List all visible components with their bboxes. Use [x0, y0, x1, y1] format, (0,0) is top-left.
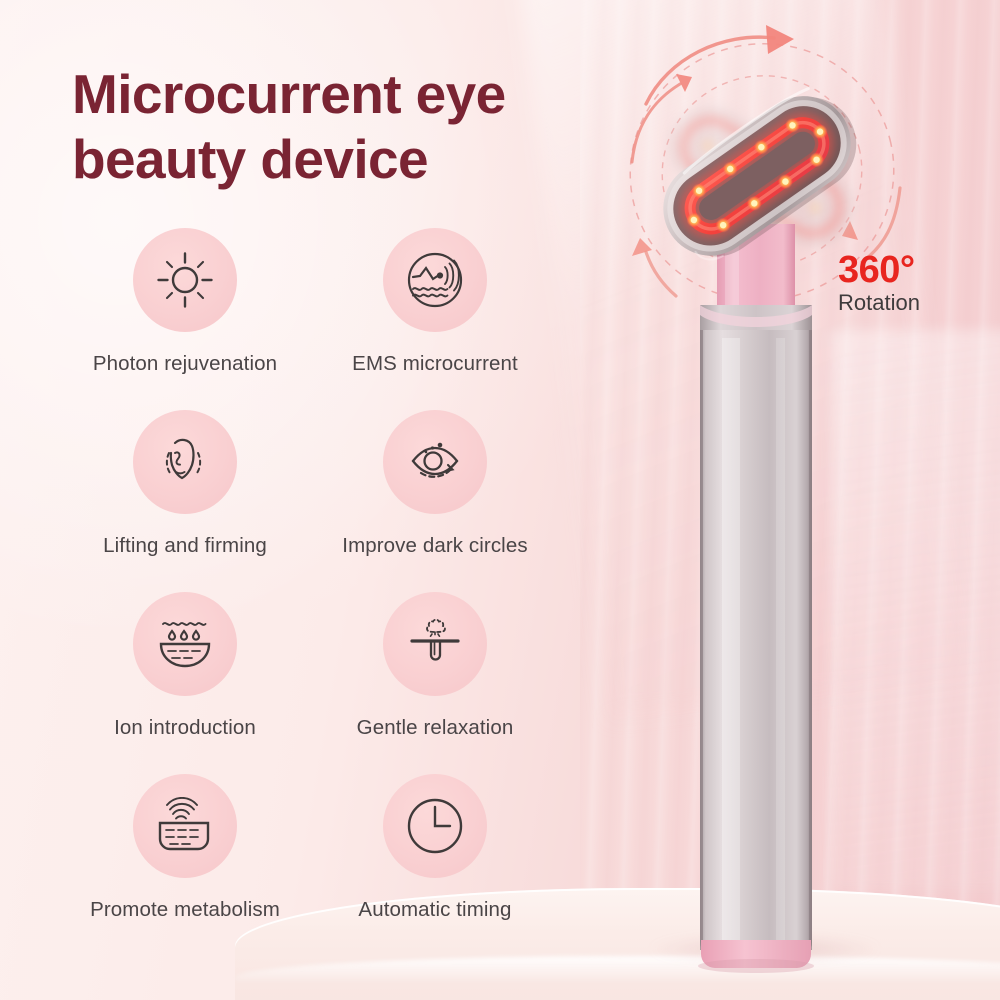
rotation-label: 360° Rotation: [838, 251, 920, 314]
device-illustration: [0, 0, 1000, 1000]
handle-body: [700, 330, 812, 958]
device-handle: [698, 224, 814, 973]
rotation-degrees: 360°: [838, 251, 920, 289]
rotation-word: Rotation: [838, 292, 920, 314]
product-poster: Microcurrent eye beauty device Photon re…: [0, 0, 1000, 1000]
